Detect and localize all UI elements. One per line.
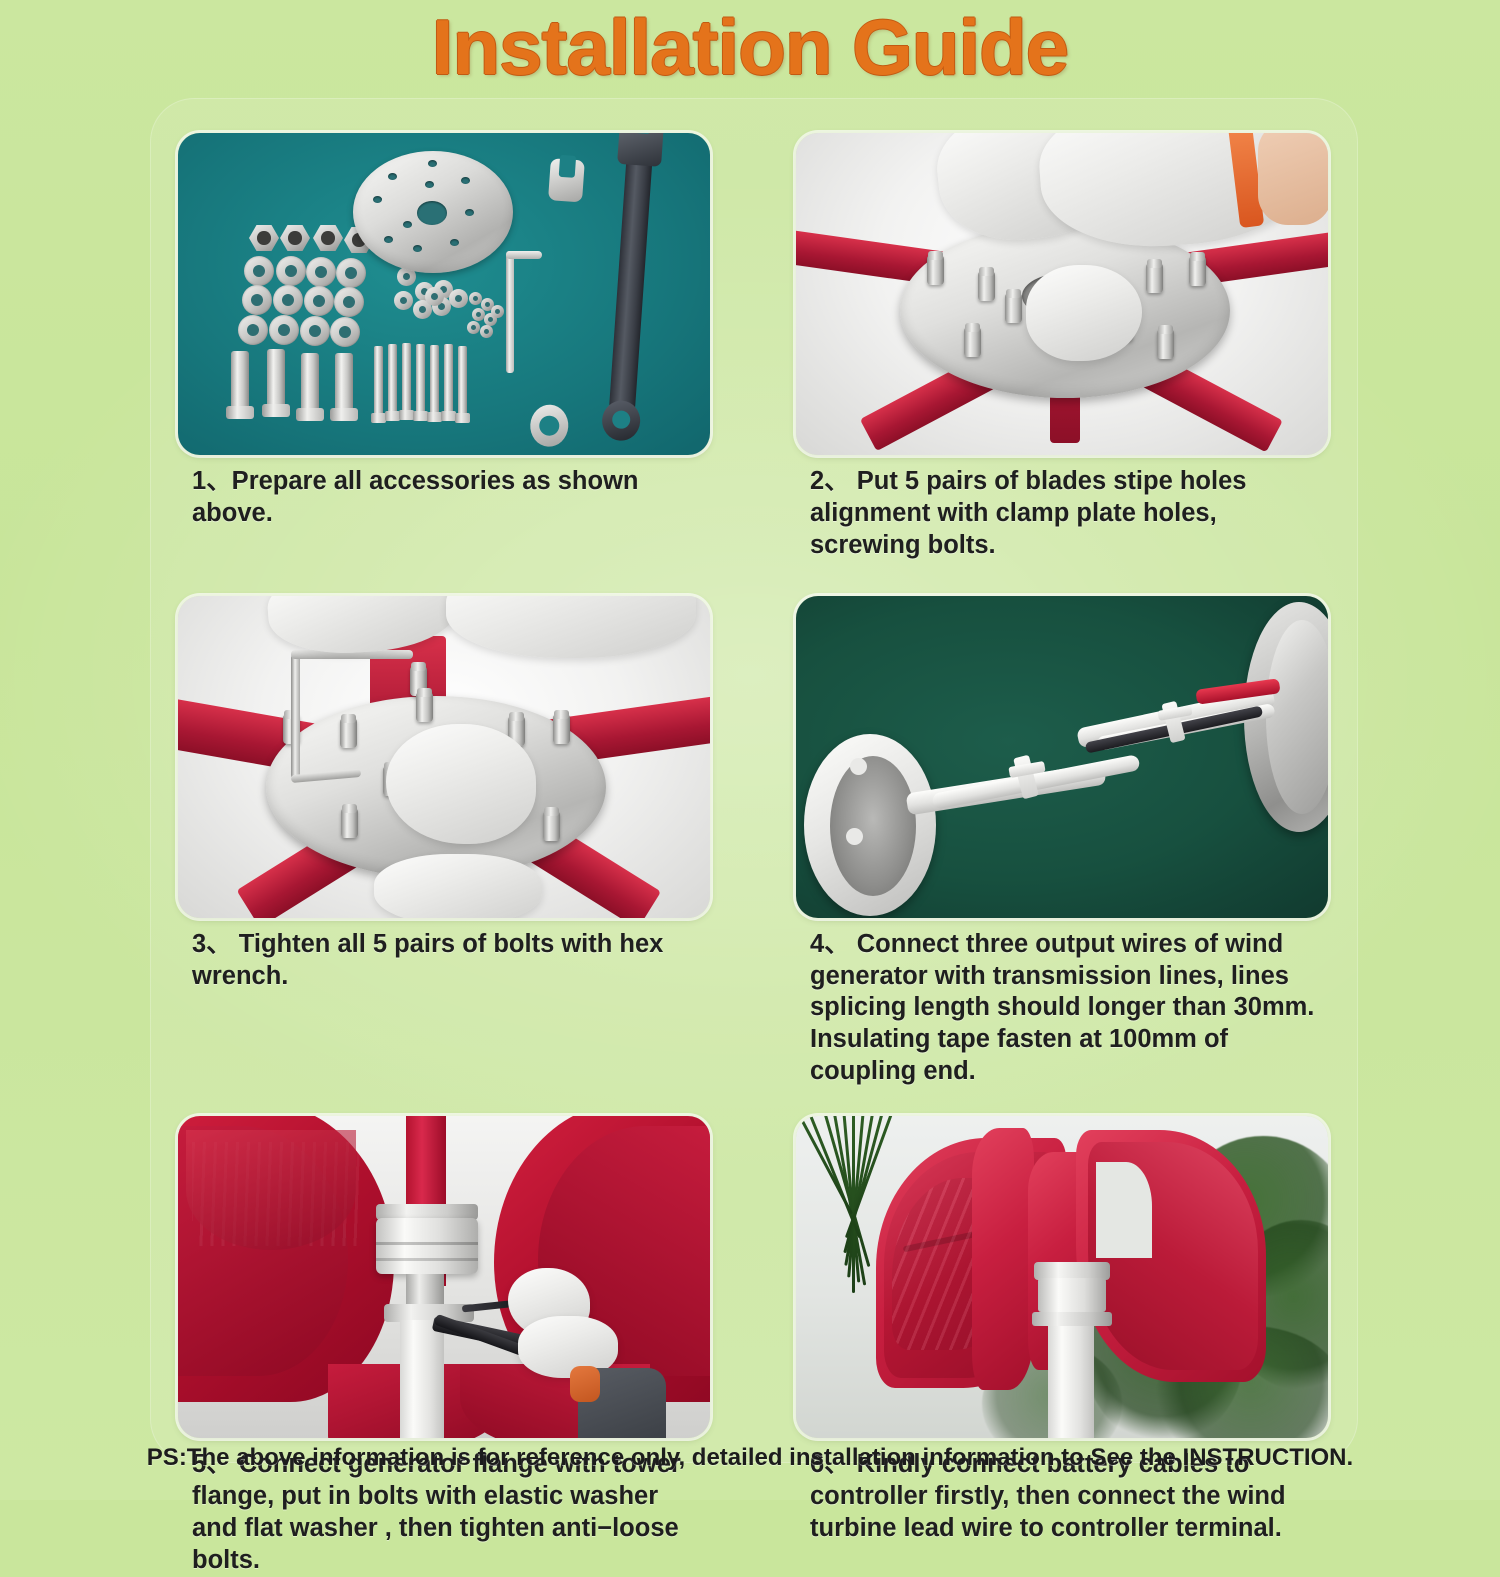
installed-turbine-photo: [796, 1116, 1328, 1438]
column-gap: [710, 596, 796, 1088]
step-1: 1、Prepare all accessories as shown above…: [178, 133, 710, 562]
step-3: 3、 Tighten all 5 pairs of bolts with hex…: [178, 596, 710, 1088]
flange-connection-photo: [178, 1116, 710, 1438]
step-6: 6、 Kindly connect battery cables to cont…: [796, 1116, 1328, 1577]
step-5: 5、 Connect generator flange with tower f…: [178, 1116, 710, 1577]
accessories-photo: [178, 133, 710, 455]
column-gap: [710, 133, 796, 562]
step-4: 4、 Connect three output wires of wind ge…: [796, 596, 1328, 1088]
steps-grid: 1、Prepare all accessories as shown above…: [178, 133, 1356, 1577]
column-gap: [710, 1116, 796, 1577]
ps-note: PS:The above information is for referenc…: [0, 1444, 1500, 1472]
installation-guide-page: Installation Guide: [0, 0, 1500, 1500]
page-title: Installation Guide: [0, 2, 1500, 93]
step-2: 2、 Put 5 pairs of blades stipe holes ali…: [796, 133, 1328, 562]
step-3-caption: 3、 Tighten all 5 pairs of bolts with hex…: [192, 929, 708, 993]
wire-connection-photo: [796, 596, 1328, 918]
tighten-bolts-photo: [178, 596, 710, 918]
step-2-caption: 2、 Put 5 pairs of blades stipe holes ali…: [810, 466, 1326, 562]
step-1-caption: 1、Prepare all accessories as shown above…: [192, 466, 708, 530]
blade-alignment-photo: [796, 133, 1328, 455]
step-4-caption: 4、 Connect three output wires of wind ge…: [810, 929, 1326, 1088]
